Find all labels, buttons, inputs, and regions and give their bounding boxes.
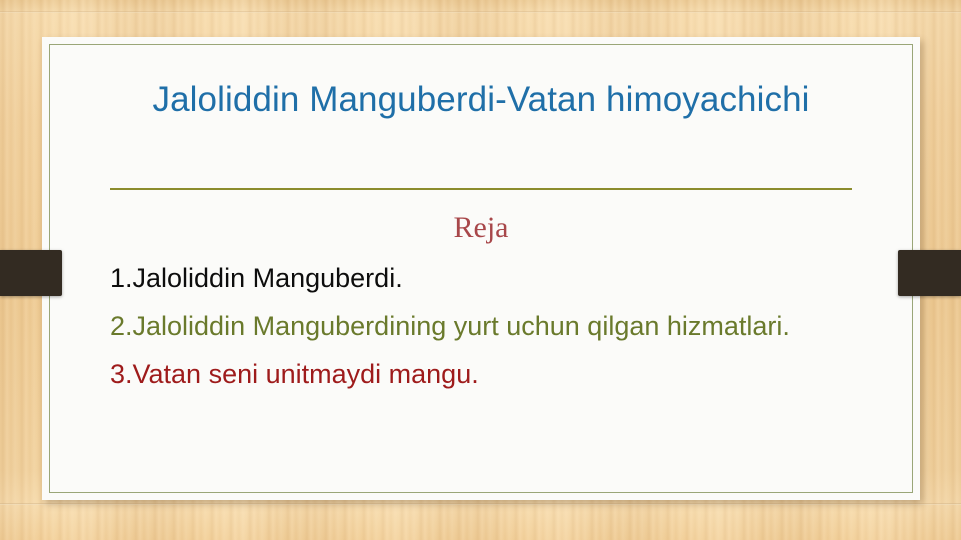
slide-title: Jaloliddin Manguberdi-Vatan himoyachichi bbox=[110, 78, 852, 122]
list-item: 1.Jaloliddin Manguberdi. bbox=[110, 262, 855, 295]
list-item: 2.Jaloliddin Manguberdining yurt uchun q… bbox=[110, 310, 855, 343]
list-item: 3.Vatan seni unitmaydi mangu. bbox=[110, 358, 855, 391]
section-heading-reja: Reja bbox=[110, 210, 852, 246]
presentation-slide: Jaloliddin Manguberdi-Vatan himoyachichi… bbox=[0, 0, 961, 540]
agenda-list: 1.Jaloliddin Manguberdi. 2.Jaloliddin Ma… bbox=[110, 262, 855, 406]
slide-content: Jaloliddin Manguberdi-Vatan himoyachichi… bbox=[0, 0, 961, 540]
title-divider-rule bbox=[110, 188, 852, 190]
